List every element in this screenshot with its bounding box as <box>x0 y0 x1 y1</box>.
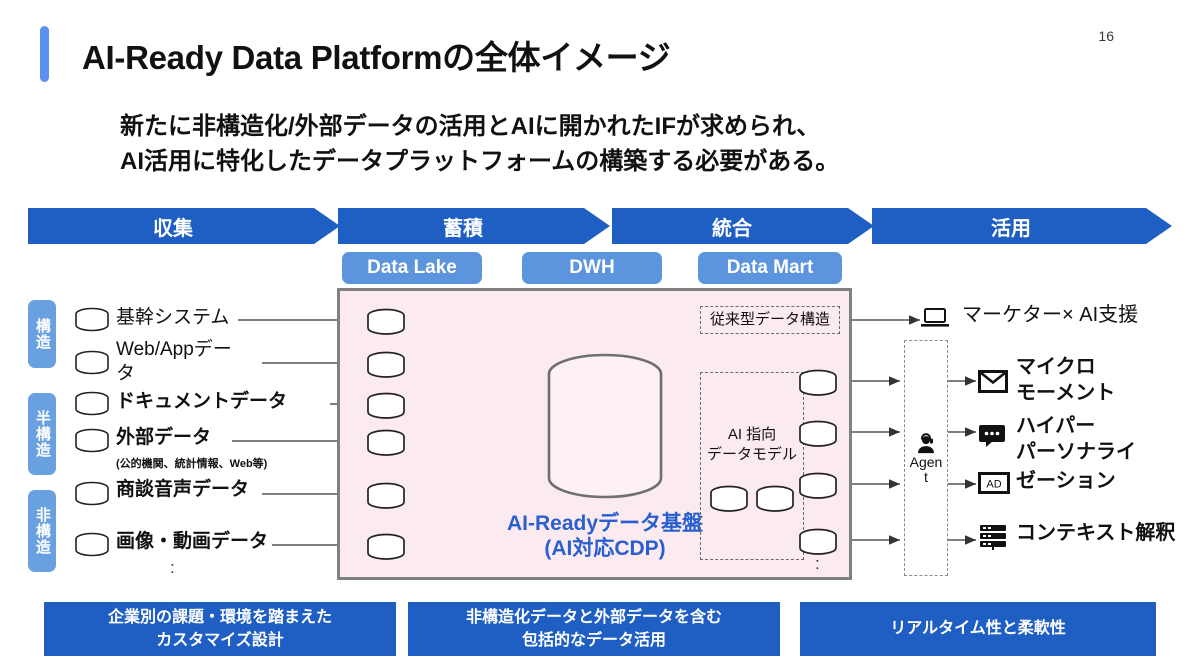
legacy-structure-label: 従来型データ構造 <box>710 311 830 329</box>
category-tag-structured: 構造 <box>28 300 56 368</box>
legacy-structure-box: 従来型データ構造 <box>700 306 840 334</box>
source-cylinder-icon <box>74 428 110 454</box>
bottom-box-line1: 企業別の課題・環境を踏まえた <box>108 606 332 629</box>
pill-dwh: DWH <box>522 252 662 284</box>
source-label-image-video: 画像・動画データ <box>116 531 268 552</box>
output-label-micro-moment-2: モーメント <box>1016 381 1115 405</box>
source-label-sales-audio: 商談音声データ <box>116 479 249 500</box>
output-label-marketer: マーケター× AI支援 <box>962 303 1138 327</box>
model-cylinder-icon <box>709 485 749 513</box>
source-cylinder-icon <box>74 391 110 417</box>
mart-cylinder-icon <box>798 369 838 397</box>
phase-arrow-utilize: 活用 <box>872 208 1172 244</box>
mart-cylinder-icon <box>798 472 838 500</box>
slide-root: AI-Ready Data Platformの全体イメージ 16 新たに非構造化… <box>0 0 1200 666</box>
ad-icon: AD <box>978 472 1010 499</box>
central-data-store-cylinder <box>545 352 665 507</box>
ai-data-model-box: AI 指向 データモデル <box>700 372 804 560</box>
bottom-box-line1: リアルタイム性と柔軟性 <box>890 617 1066 640</box>
server-icon <box>978 524 1008 555</box>
output-label-context: コンテキスト解釈 <box>1016 521 1175 545</box>
phase-label: 蓄積 <box>443 212 483 241</box>
output-label-personalization: ゼーション <box>1016 469 1116 493</box>
bottom-box-line2: 包括的なデータ活用 <box>466 629 722 652</box>
agent-label-line1: Agen <box>905 455 947 470</box>
source-sublabel-external: (公的機関、統計情報、Web等) <box>116 455 267 471</box>
page-title: AI-Ready Data Platformの全体イメージ <box>82 31 670 79</box>
source-cylinder-icon <box>74 307 110 333</box>
pill-data-lake: Data Lake <box>342 252 482 284</box>
phase-arrow-store: 蓄積 <box>338 208 610 244</box>
pill-data-mart: Data Mart <box>698 252 842 284</box>
chat-icon <box>978 424 1006 453</box>
source-cylinder-icon <box>74 350 110 376</box>
output-label-hyper-2: パーソナライ <box>1016 440 1136 464</box>
source-label-web-app: Web/Appデー <box>116 339 232 360</box>
agent-headset-icon <box>913 430 939 454</box>
phase-label: 収集 <box>153 212 193 241</box>
page-number: 16 <box>1098 28 1114 44</box>
lead-line-1: 新たに非構造化/外部データの活用とAIに開かれたIFが求められ、 <box>120 110 1100 145</box>
source-label-core-system: 基幹システム <box>116 307 229 328</box>
model-cylinder-icon <box>755 485 795 513</box>
phase-arrow-collect: 収集 <box>28 208 340 244</box>
svg-text:AD: AD <box>986 479 1001 491</box>
bottom-box-line2: カスタマイズ設計 <box>108 629 332 652</box>
source-label-document: ドキュメントデータ <box>116 391 287 412</box>
mart-ellipsis: : <box>815 554 821 574</box>
bottom-box-realtime: リアルタイム性と柔軟性 <box>800 602 1156 656</box>
phase-label: 統合 <box>712 212 752 241</box>
source-label-web-app-cont: タ <box>116 363 135 384</box>
source-cylinder-icon <box>74 532 110 558</box>
lake-cylinder-icon <box>366 482 406 510</box>
agent-box: Agen t <box>904 340 948 576</box>
mart-cylinder-icon <box>798 528 838 556</box>
agent-inner: Agen t <box>905 430 947 486</box>
ai-model-label-line1: AI 指向 <box>701 425 803 445</box>
laptop-icon <box>920 306 950 335</box>
lake-cylinder-icon <box>366 308 406 336</box>
bottom-box-comprehensive: 非構造化データと外部データを含む 包括的なデータ活用 <box>408 602 780 656</box>
lead-line-2: AI活用に特化したデータプラットフォームの構築する必要がある。 <box>120 145 1100 180</box>
bottom-box-customize: 企業別の課題・環境を踏まえた カスタマイズ設計 <box>44 602 396 656</box>
lake-cylinder-icon <box>366 429 406 457</box>
ai-model-label-line2: データモデル <box>701 445 803 465</box>
output-label-micro-moment-1: マイクロ <box>1016 355 1096 379</box>
bottom-box-line1: 非構造化データと外部データを含む <box>466 606 722 629</box>
lake-cylinder-icon <box>366 533 406 561</box>
phase-arrow-integrate: 統合 <box>612 208 874 244</box>
phase-label: 活用 <box>991 212 1031 241</box>
lead-paragraph: 新たに非構造化/外部データの活用とAIに開かれたIFが求められ、 AI活用に特化… <box>120 110 1100 180</box>
category-tag-semi-structured: 半構造 <box>28 393 56 475</box>
output-label-hyper-1: ハイパー <box>1016 414 1095 438</box>
agent-label-line2: t <box>905 471 947 486</box>
category-tag-unstructured: 非構造 <box>28 490 56 572</box>
title-accent-bar <box>40 26 49 82</box>
mart-cylinder-icon <box>798 420 838 448</box>
lake-cylinder-icon <box>366 351 406 379</box>
source-label-external: 外部データ <box>116 427 211 448</box>
source-cylinder-icon <box>74 481 110 507</box>
lake-cylinder-icon <box>366 392 406 420</box>
source-ellipsis: : <box>170 558 176 578</box>
mail-icon <box>978 370 1008 398</box>
